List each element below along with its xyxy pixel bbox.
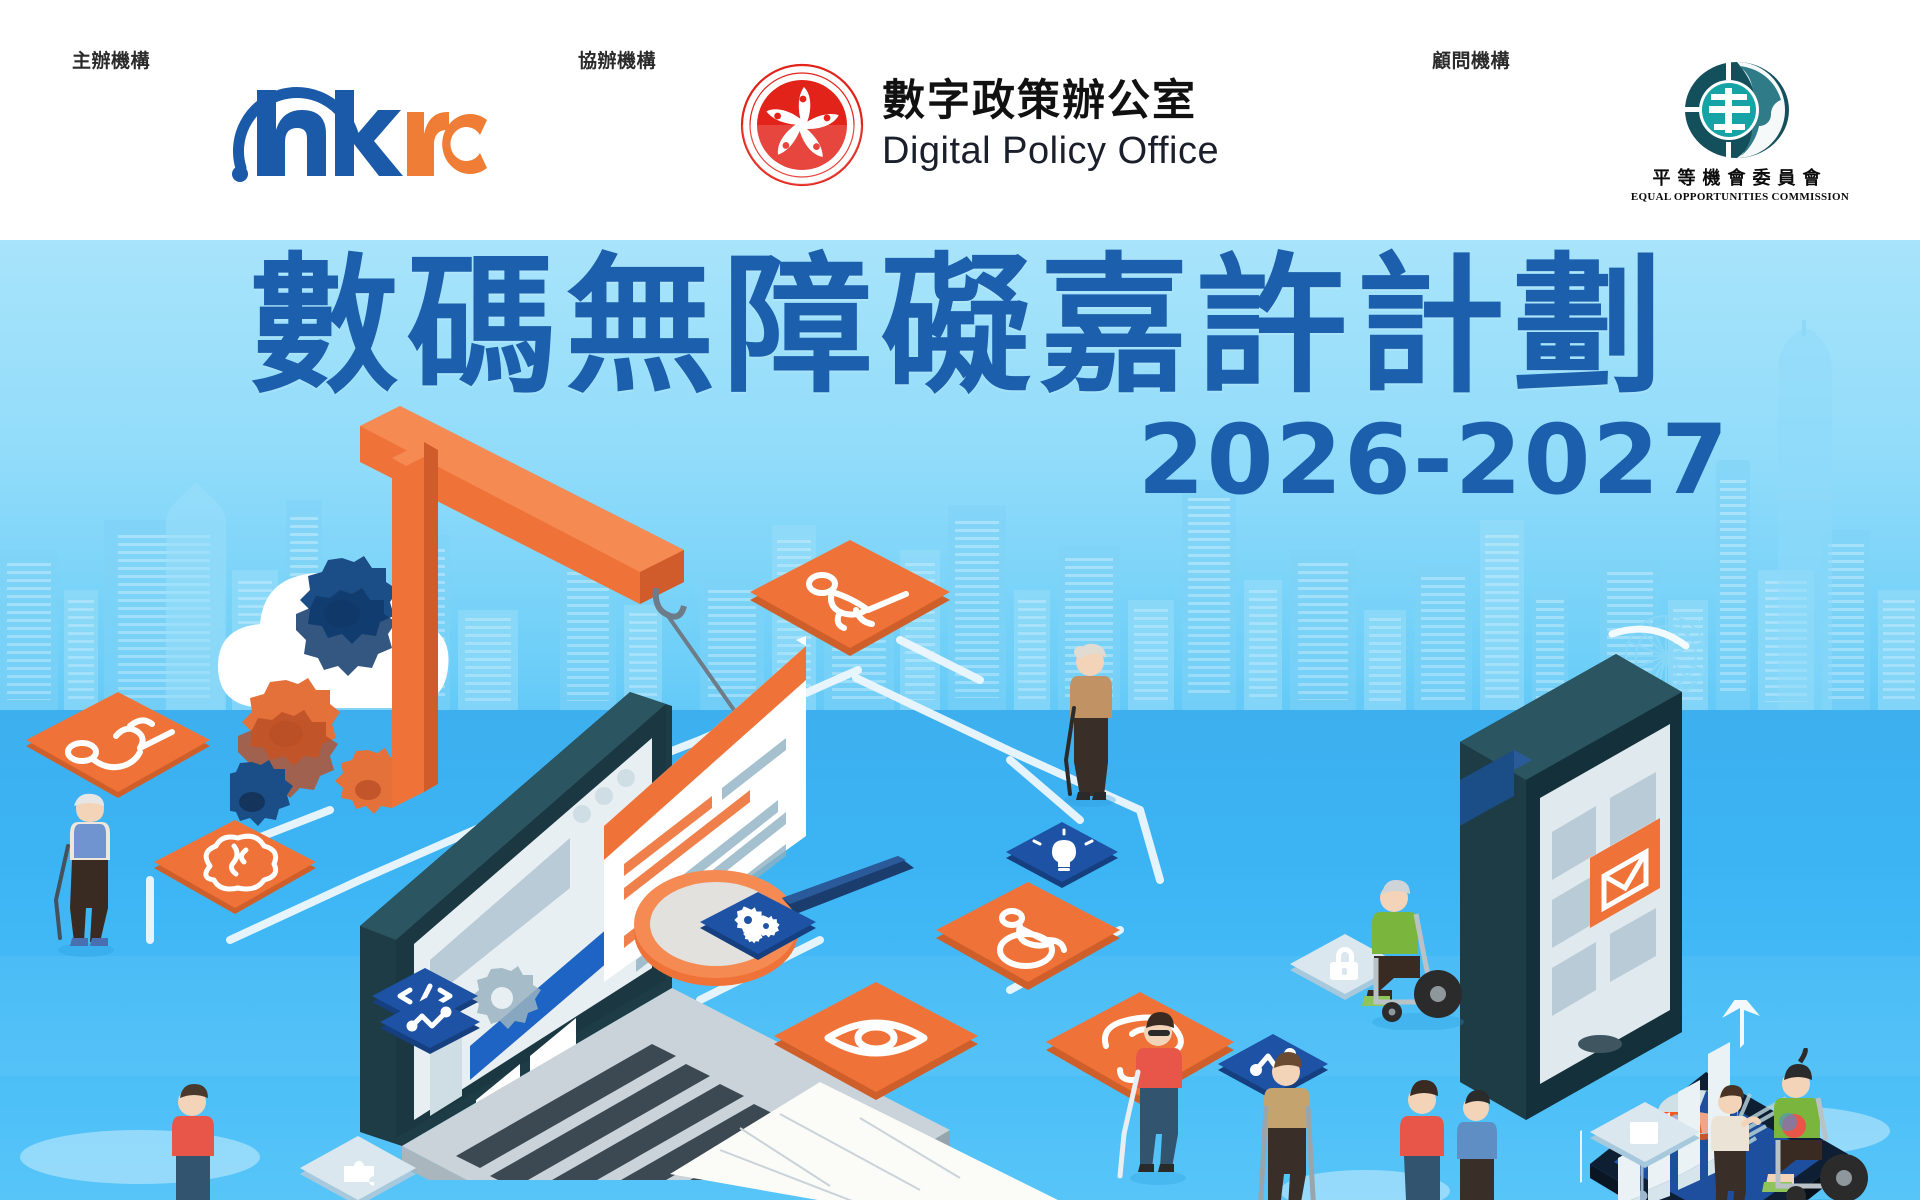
poster: 主辦機構 協辦機構 顧問機構	[0, 0, 1920, 1200]
dpo-title-en: Digital Policy Office	[882, 132, 1219, 170]
eoc-emblem-icon	[1679, 58, 1801, 162]
advisor-role-label: 顧問機構	[1432, 46, 1510, 73]
tile-gears[interactable]	[694, 890, 822, 990]
tile-brain[interactable]	[148, 818, 322, 954]
tile-eye[interactable]	[768, 980, 984, 1146]
person-wheelchair-mid	[1340, 870, 1500, 1035]
tile-document[interactable]	[1584, 1098, 1706, 1194]
hero-illustration: 數碼無障礙嘉許計劃 2026-2027	[0, 240, 1920, 1200]
eoc-title-zh: 平等機會委員會	[1653, 164, 1828, 190]
tile-elderly[interactable]	[744, 538, 956, 702]
hksar-bauhinia-emblem-icon	[740, 63, 864, 187]
person-pair-signing	[1382, 1070, 1522, 1200]
person-wheelchair-right	[1744, 1048, 1904, 1200]
person-crutches	[1236, 1046, 1336, 1200]
eoc-logo-group[interactable]: 平等機會委員會 EQUAL OPPORTUNITIES COMMISSION	[1630, 58, 1850, 218]
header-bar: 主辦機構 協辦機構 顧問機構	[0, 0, 1920, 240]
eoc-title-en: EQUAL OPPORTUNITIES COMMISSION	[1631, 191, 1849, 203]
dpo-title-zh: 數字政策辦公室	[882, 80, 1219, 123]
dpo-logo-group[interactable]: 數字政策辦公室 Digital Policy Office	[740, 55, 1340, 195]
tile-puzzle[interactable]	[294, 1132, 422, 1200]
tile-analytics[interactable]	[374, 992, 486, 1080]
co-organiser-role-label: 協辦機構	[578, 46, 656, 73]
hkirc-logo[interactable]	[225, 60, 495, 190]
person-walking-bottom-left	[148, 1078, 234, 1200]
person-elderly-cane-left	[38, 780, 128, 965]
person-blind-cane	[1108, 1006, 1208, 1191]
person-elderly-woman-cane	[1044, 638, 1134, 813]
host-role-label: 主辦機構	[72, 46, 150, 73]
tile-lightbulb[interactable]	[1000, 820, 1124, 916]
